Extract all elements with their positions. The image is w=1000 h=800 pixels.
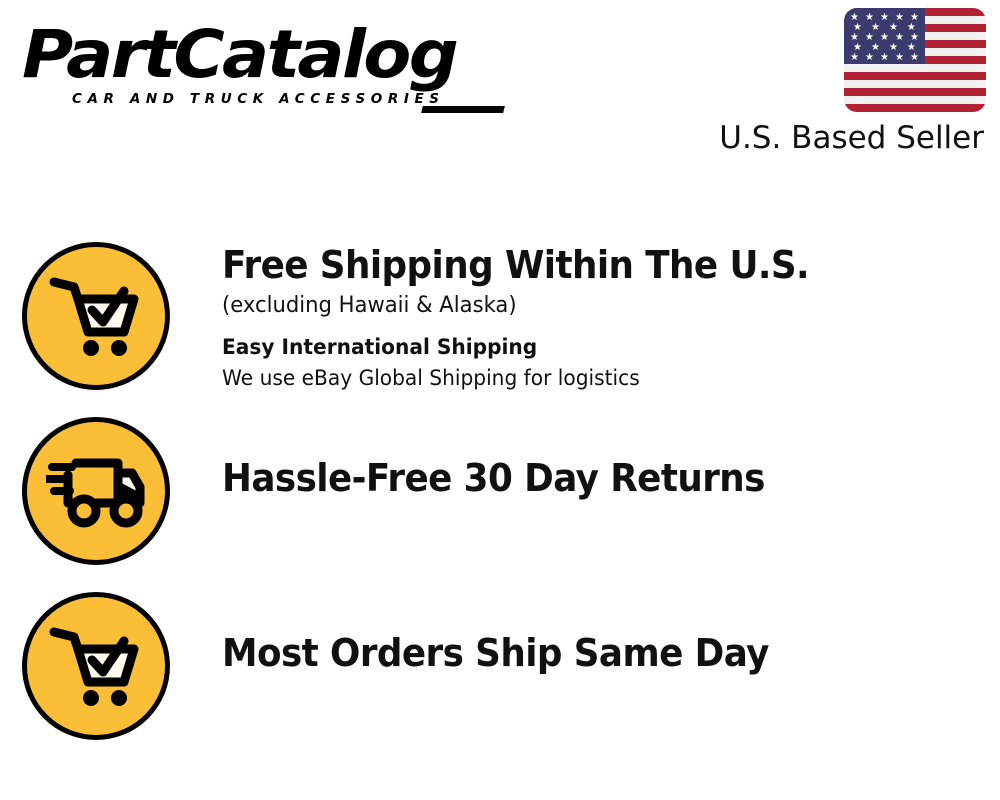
feature-title: Most Orders Ship Same Day bbox=[222, 630, 953, 676]
promo-banner: PartCatalog CAR AND TRUCK ACCESSORIES bbox=[0, 0, 1000, 800]
feature-icon-cell bbox=[0, 236, 192, 390]
feature-icon-cell bbox=[0, 411, 192, 565]
feature-subtitle: Easy International Shipping bbox=[222, 332, 969, 363]
logo-swoosh-icon bbox=[421, 106, 505, 113]
delivery-truck-icon bbox=[22, 417, 170, 565]
feature-row: Free Shipping Within The U.S. (excluding… bbox=[0, 236, 1000, 411]
flag-canton: ★★★★★ ★★★★ ★★★★★ ★★★★ ★★★★★ bbox=[844, 8, 925, 64]
banner-header: PartCatalog CAR AND TRUCK ACCESSORIES bbox=[0, 0, 1000, 170]
feature-note: (excluding Hawaii & Alaska) bbox=[222, 290, 969, 322]
feature-text-cell: Most Orders Ship Same Day bbox=[192, 586, 1000, 676]
feature-title: Free Shipping Within The U.S. bbox=[222, 242, 953, 288]
feature-text-cell: Hassle-Free 30 Day Returns bbox=[192, 411, 1000, 501]
feature-row: Most Orders Ship Same Day bbox=[0, 586, 1000, 761]
feature-text-cell: Free Shipping Within The U.S. (excluding… bbox=[192, 236, 1000, 394]
feature-icon-cell bbox=[0, 586, 192, 740]
feature-row: Hassle-Free 30 Day Returns bbox=[0, 411, 1000, 586]
us-flag-icon: ★★★★★ ★★★★ ★★★★★ ★★★★ ★★★★★ bbox=[844, 8, 986, 112]
us-based-seller-badge: ★★★★★ ★★★★ ★★★★★ ★★★★ ★★★★★ U.S. Based S… bbox=[686, 8, 986, 157]
us-based-seller-label: U.S. Based Seller bbox=[686, 119, 984, 157]
brand-tagline: CAR AND TRUCK ACCESSORIES bbox=[72, 91, 445, 107]
flag-star-row: ★★★★★ bbox=[844, 53, 925, 63]
feature-title: Hassle-Free 30 Day Returns bbox=[222, 455, 953, 501]
feature-subnote: We use eBay Global Shipping for logistic… bbox=[222, 363, 969, 394]
shopping-cart-check-icon bbox=[22, 592, 170, 740]
brand-wordmark: PartCatalog bbox=[22, 22, 520, 88]
shopping-cart-check-icon bbox=[22, 242, 170, 390]
brand-logo[interactable]: PartCatalog CAR AND TRUCK ACCESSORIES bbox=[22, 22, 492, 117]
